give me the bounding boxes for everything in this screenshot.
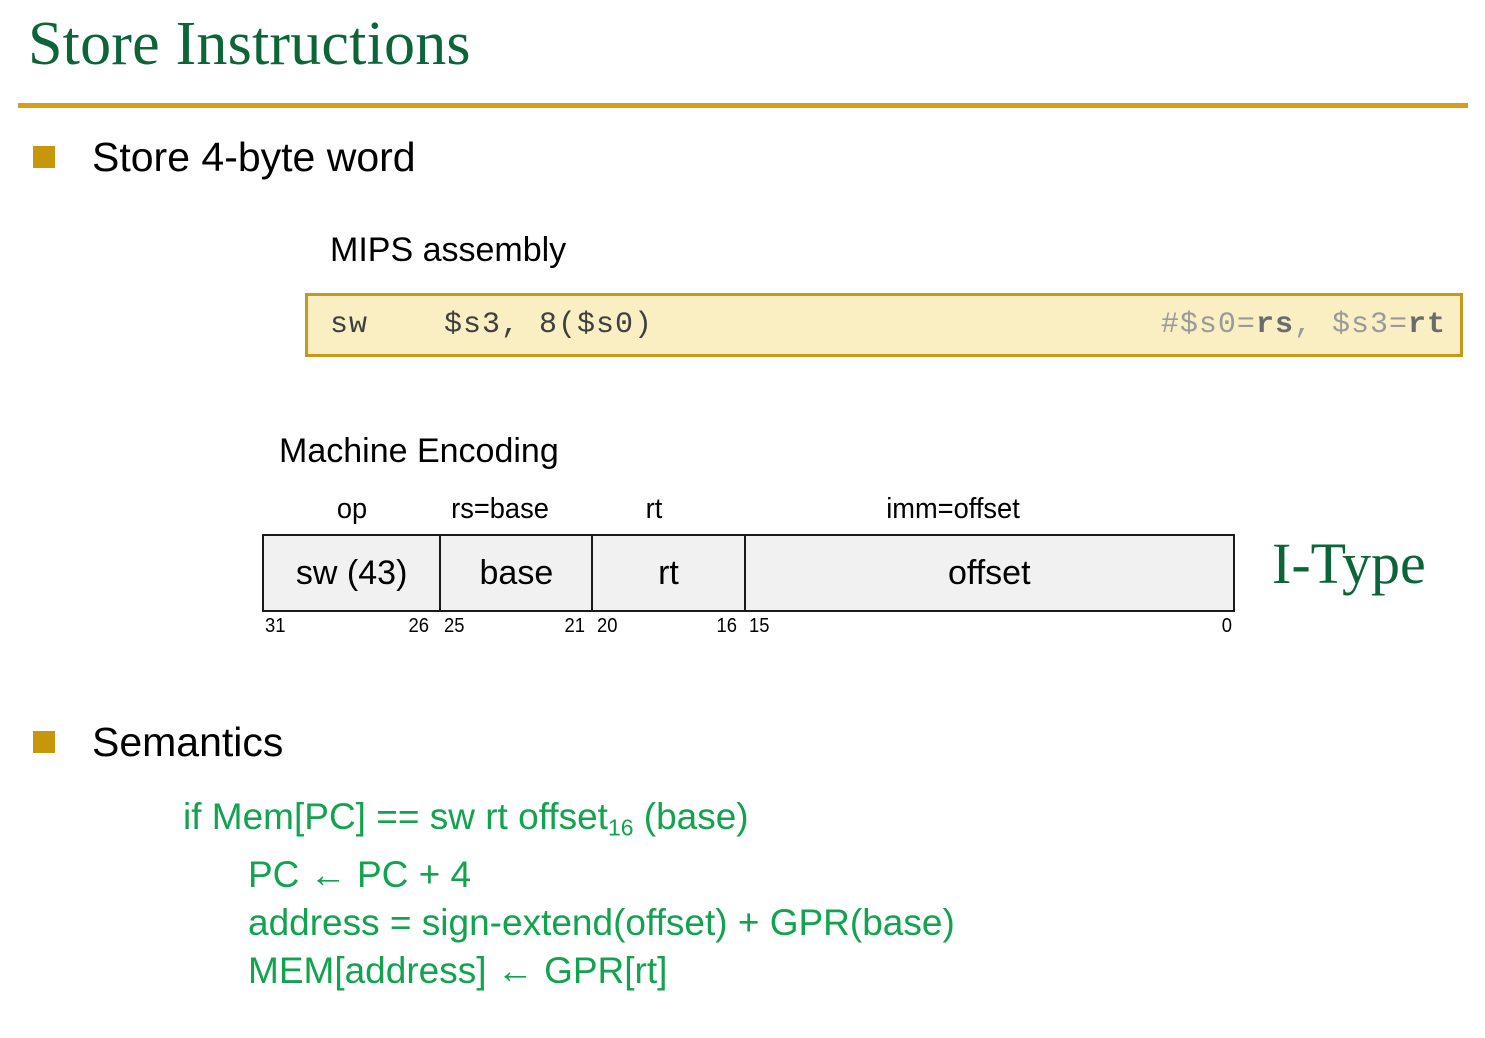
instruction-type-label: I-Type <box>1272 530 1426 598</box>
semantics-line: address = sign-extend(offset) + GPR(base… <box>183 899 955 947</box>
bullet-square-icon <box>33 146 55 168</box>
caption-machine-encoding: Machine Encoding <box>279 431 559 471</box>
semantics-line-text: if Mem[PC] == sw rt offset <box>183 796 608 837</box>
encoding-field-table: sw (43)basertoffset <box>262 534 1235 612</box>
bullet-store-4-byte-word: Store 4-byte word <box>33 133 416 181</box>
encoding-bit-label: 26 <box>409 614 429 638</box>
semantics-line: PC ← PC + 4 <box>183 851 955 899</box>
semantics-line: if Mem[PC] == sw rt offset16 (base) <box>183 793 955 851</box>
bullet-square-icon <box>33 731 55 753</box>
comment-rt-bold: rt <box>1408 308 1446 342</box>
encoding-field-header: imm=offset <box>886 492 1020 526</box>
encoding-field-headers: oprs=basertimm=offset <box>262 492 1235 534</box>
encoding-field-cell: base <box>441 536 593 610</box>
semantics-line-text: address = sign-extend(offset) + GPR(base… <box>248 902 955 943</box>
bullet-semantics-label: Semantics <box>92 718 283 766</box>
title-divider-rule <box>18 103 1468 108</box>
assembly-instruction-text: sw $s3, 8($s0) <box>330 308 653 342</box>
caption-mips-assembly: MIPS assembly <box>330 230 566 270</box>
bullet-semantics: Semantics <box>33 718 283 766</box>
encoding-field-cell: sw (43) <box>264 536 441 610</box>
encoding-field-header: op <box>336 492 366 526</box>
machine-encoding-diagram: oprs=basertimm=offset sw (43)basertoffse… <box>262 492 1235 642</box>
encoding-field-cell: offset <box>746 536 1233 610</box>
comment-prefix: #$s0= <box>1161 308 1256 342</box>
encoding-bit-label: 31 <box>265 614 285 638</box>
semantics-pseudocode-block: if Mem[PC] == sw rt offset16 (base)PC ← … <box>183 793 955 995</box>
encoding-bit-label: 16 <box>716 614 736 638</box>
encoding-bit-label: 0 <box>1222 614 1232 638</box>
encoding-field-cell: rt <box>593 536 745 610</box>
semantics-line-text: PC <box>248 854 310 895</box>
page-title: Store Instructions <box>28 2 471 86</box>
semantics-line-text: MEM[address] <box>248 950 497 991</box>
comment-middle: , $s3= <box>1294 308 1408 342</box>
encoding-field-header: rs=base <box>452 492 550 526</box>
semantics-line-text-tail: ← GPR[rt] <box>497 950 668 991</box>
encoding-bit-label: 25 <box>444 614 464 638</box>
assembly-comment-text: #$s0=rs, $s3=rt <box>1161 308 1446 342</box>
encoding-field-header: rt <box>646 492 663 526</box>
bullet-store-label: Store 4-byte word <box>92 133 416 181</box>
semantics-line: MEM[address] ← GPR[rt] <box>183 947 955 995</box>
semantics-subscript: 16 <box>608 814 634 840</box>
encoding-bit-label: 21 <box>565 614 585 638</box>
comment-rs-bold: rs <box>1256 308 1294 342</box>
assembly-code-box: sw $s3, 8($s0) #$s0=rs, $s3=rt <box>305 293 1463 357</box>
semantics-line-text-tail: ← PC + 4 <box>310 854 471 895</box>
encoding-bit-label: 20 <box>597 614 617 638</box>
encoding-bit-label: 15 <box>749 614 769 638</box>
semantics-line-text-tail: (base) <box>633 796 748 837</box>
encoding-bit-index-labels: 312625212016150 <box>262 612 1235 642</box>
